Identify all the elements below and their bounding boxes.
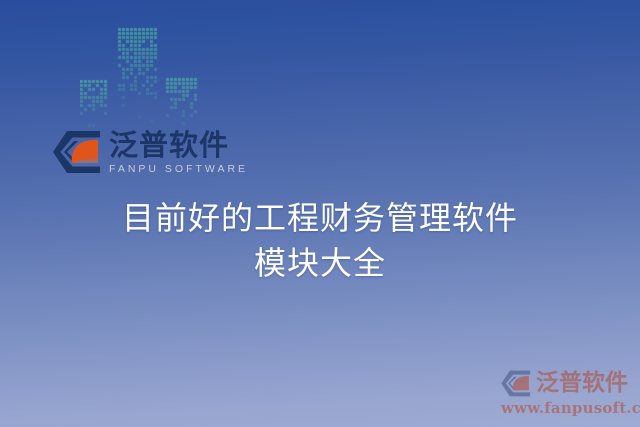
marketing-banner: 泛普软件 FANPU SOFTWARE 目前好的工程财务管理软件 模块大全 泛普… xyxy=(0,0,640,427)
fanpu-hexagon-swoosh-logo-icon xyxy=(500,370,532,397)
watermark-brand-name: 泛普软件 xyxy=(536,372,628,395)
brand-name-en: FANPU SOFTWARE xyxy=(109,164,248,175)
fanpu-hexagon-swoosh-logo-icon xyxy=(52,130,102,174)
watermark-logo-row: 泛普软件 xyxy=(500,368,636,398)
watermark-url: www.fanpusoft.com xyxy=(501,399,636,417)
brand-logo-wordmark: 泛普软件 FANPU SOFTWARE xyxy=(109,130,248,174)
pixel-city-skyline-canvas xyxy=(80,18,198,136)
brand-name-cn: 泛普软件 xyxy=(109,130,248,161)
watermark: 泛普软件 www.fanpusoft.com xyxy=(500,368,636,417)
headline-line-2: 模块大全 xyxy=(0,241,640,286)
brand-logo: 泛普软件 FANPU SOFTWARE xyxy=(52,126,248,178)
headline: 目前好的工程财务管理软件 模块大全 xyxy=(0,196,640,286)
headline-line-1: 目前好的工程财务管理软件 xyxy=(0,196,640,241)
pixel-city-skyline-icon xyxy=(80,18,198,136)
